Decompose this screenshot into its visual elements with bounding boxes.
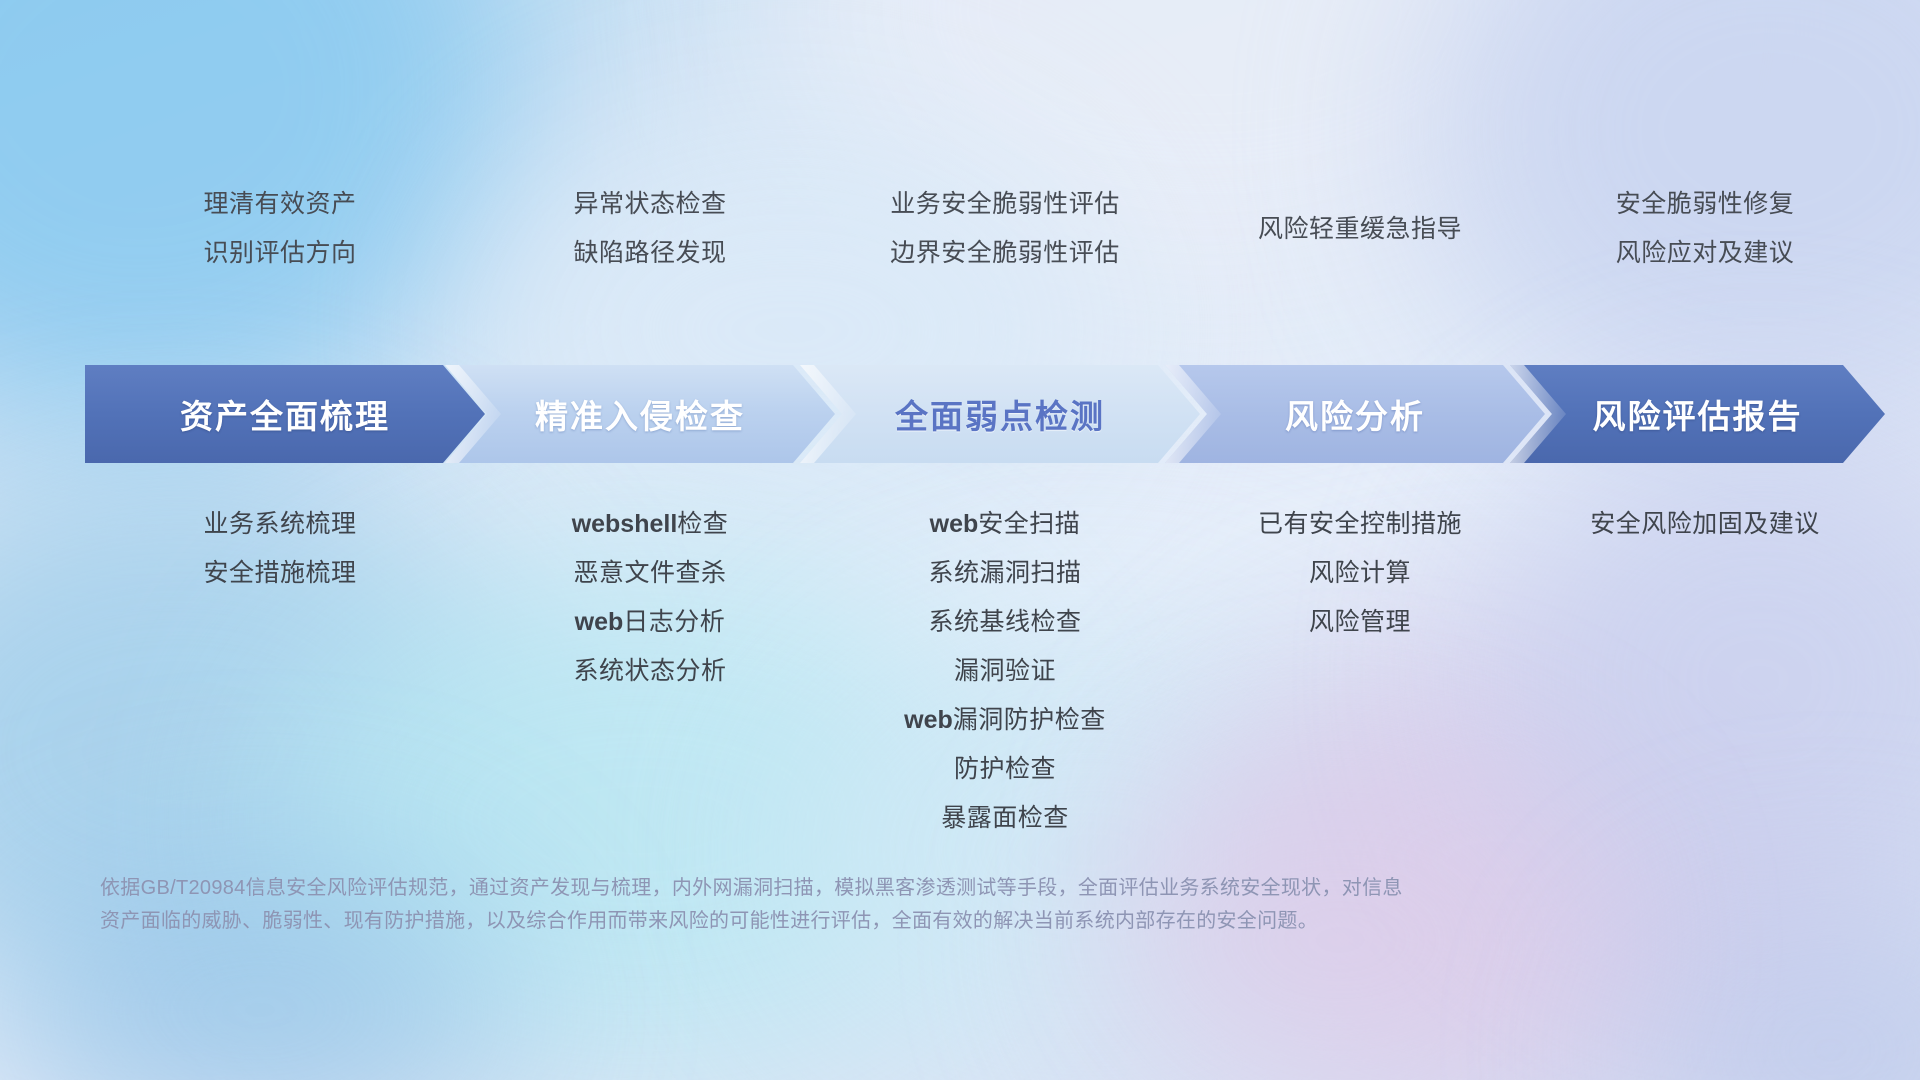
bottom-item: webshell检查 — [475, 500, 825, 549]
stage-arrow-3[interactable]: 全面弱点检测 — [800, 365, 1200, 463]
top-item: 理清有效资产 — [85, 180, 475, 229]
bottom-item: 风险计算 — [1185, 549, 1535, 598]
bottom-item-cn: 恶意文件查杀 — [573, 559, 726, 587]
stage-label: 全面弱点检测 — [895, 390, 1105, 438]
bottom-item-cn: 漏洞防护检查 — [953, 706, 1106, 734]
bottom-item-cn: 检查 — [677, 510, 728, 538]
top-items-column-4: 风险轻重缓急指导 — [1185, 180, 1535, 278]
bottom-item-latin: webshell — [572, 510, 678, 538]
bottom-item: web漏洞防护检查 — [825, 696, 1185, 745]
bottom-item-cn: 安全扫描 — [978, 510, 1080, 538]
bottom-item-latin: web — [930, 510, 979, 538]
bottom-item: 安全措施梳理 — [85, 549, 475, 598]
bottom-item: 业务系统梳理 — [85, 500, 475, 549]
bottom-item-cn: 系统基线检查 — [928, 608, 1081, 636]
bottom-items-column-4: 已有安全控制措施 风险计算 风险管理 — [1185, 500, 1535, 647]
bottom-item: 系统漏洞扫描 — [825, 549, 1185, 598]
bottom-item-cn: 已有安全控制措施 — [1258, 510, 1462, 538]
bottom-item: 已有安全控制措施 — [1185, 500, 1535, 549]
bottom-item-cn: 日志分析 — [623, 608, 725, 636]
stage-arrow-banner: 资产全面梳理 精准入侵检查 全面弱点检测 风险分析 风险评估报告 — [85, 365, 1845, 463]
top-item: 识别评估方向 — [85, 229, 475, 278]
footer-line-2: 资产面临的威胁、脆弱性、现有防护措施，以及综合作用而带来风险的可能性进行评估，全… — [100, 905, 1600, 938]
top-items-row: 理清有效资产 识别评估方向 异常状态检查 缺陷路径发现 业务安全脆弱性评估 边界… — [0, 180, 1920, 290]
bottom-item: 风险管理 — [1185, 598, 1535, 647]
bottom-item-cn: 业务系统梳理 — [203, 510, 356, 538]
stage-arrow-1[interactable]: 资产全面梳理 — [85, 365, 485, 463]
top-items-column-5: 安全脆弱性修复 风险应对及建议 — [1535, 180, 1875, 278]
bottom-items-column-1: 业务系统梳理 安全措施梳理 — [85, 500, 475, 598]
bottom-items-column-5: 安全风险加固及建议 — [1535, 500, 1875, 549]
bottom-item: 恶意文件查杀 — [475, 549, 825, 598]
top-items-column-1: 理清有效资产 识别评估方向 — [85, 180, 475, 278]
bottom-items-column-2: webshell检查 恶意文件查杀 web日志分析 系统状态分析 — [475, 500, 825, 696]
bottom-item: 系统状态分析 — [475, 647, 825, 696]
bottom-item-cn: 系统状态分析 — [573, 657, 726, 685]
stage-label: 精准入侵检查 — [535, 390, 745, 438]
bottom-item-cn: 暴露面检查 — [941, 804, 1069, 832]
top-item: 风险应对及建议 — [1535, 229, 1875, 278]
bottom-item: 暴露面检查 — [825, 794, 1185, 843]
bottom-item: 安全风险加固及建议 — [1535, 500, 1875, 549]
stage-label: 风险分析 — [1285, 390, 1425, 438]
bottom-item-latin: web — [575, 608, 624, 636]
bottom-item-cn: 安全风险加固及建议 — [1590, 510, 1820, 538]
bottom-item: 防护检查 — [825, 745, 1185, 794]
top-item: 风险轻重缓急指导 — [1185, 180, 1535, 278]
bottom-item: web安全扫描 — [825, 500, 1185, 549]
stage-label: 风险评估报告 — [1593, 390, 1803, 438]
top-items-column-2: 异常状态检查 缺陷路径发现 — [475, 180, 825, 278]
top-items-column-3: 业务安全脆弱性评估 边界安全脆弱性评估 — [825, 180, 1185, 278]
footer-description: 依据GB/T20984信息安全风险评估规范，通过资产发现与梳理，内外网漏洞扫描，… — [100, 872, 1600, 938]
bottom-item-cn: 风险管理 — [1309, 608, 1411, 636]
process-diagram: 理清有效资产 识别评估方向 异常状态检查 缺陷路径发现 业务安全脆弱性评估 边界… — [0, 0, 1920, 1080]
bottom-item-latin: web — [904, 706, 953, 734]
stage-arrow-4[interactable]: 风险分析 — [1165, 365, 1545, 463]
bottom-item-cn: 安全措施梳理 — [203, 559, 356, 587]
bottom-item-cn: 防护检查 — [954, 755, 1056, 783]
top-item: 安全脆弱性修复 — [1535, 180, 1875, 229]
bottom-item: 系统基线检查 — [825, 598, 1185, 647]
bottom-item-cn: 风险计算 — [1309, 559, 1411, 587]
footer-line-1: 依据GB/T20984信息安全风险评估规范，通过资产发现与梳理，内外网漏洞扫描，… — [100, 872, 1600, 905]
bottom-item-cn: 漏洞验证 — [954, 657, 1056, 685]
bottom-items-column-3: web安全扫描 系统漏洞扫描 系统基线检查 漏洞验证 web漏洞防护检查 防护检… — [825, 500, 1185, 843]
bottom-item: web日志分析 — [475, 598, 825, 647]
stage-label: 资产全面梳理 — [180, 390, 390, 438]
top-item: 异常状态检查 — [475, 180, 825, 229]
bottom-item: 漏洞验证 — [825, 647, 1185, 696]
top-item: 缺陷路径发现 — [475, 229, 825, 278]
top-item: 边界安全脆弱性评估 — [825, 229, 1185, 278]
top-item: 业务安全脆弱性评估 — [825, 180, 1185, 229]
bottom-items-row: 业务系统梳理 安全措施梳理 webshell检查 恶意文件查杀 web日志分析 … — [0, 500, 1920, 860]
stage-arrow-5[interactable]: 风险评估报告 — [1510, 365, 1885, 463]
stage-arrow-2[interactable]: 精准入侵检查 — [445, 365, 835, 463]
bottom-item-cn: 系统漏洞扫描 — [928, 559, 1081, 587]
